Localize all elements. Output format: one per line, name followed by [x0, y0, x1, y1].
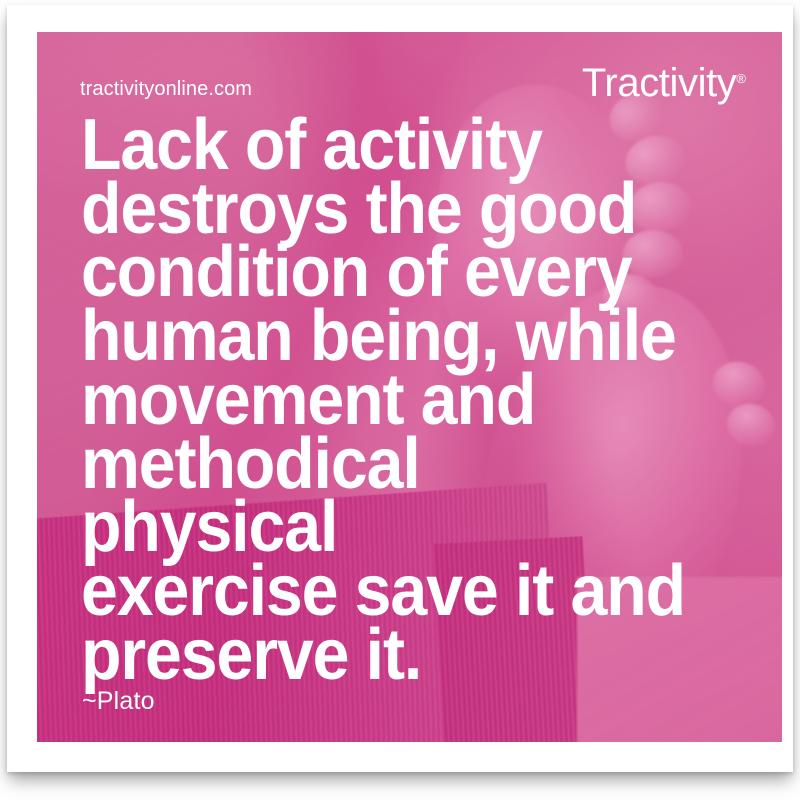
brand-logo-text: Tractivity — [582, 61, 737, 105]
photo-frame: tractivityonline.com Tractivity® Lack of… — [7, 5, 793, 772]
brand-logo: Tractivity® — [582, 63, 746, 103]
card-content: tractivityonline.com Tractivity® Lack of… — [37, 32, 782, 742]
quote-card: tractivityonline.com Tractivity® Lack of… — [37, 32, 782, 742]
registered-trademark-icon: ® — [736, 71, 746, 86]
quote-text: Lack of activity destroys the good condi… — [81, 114, 688, 687]
poster-canvas: tractivityonline.com Tractivity® Lack of… — [0, 0, 800, 800]
quote-attribution: ~Plato — [82, 687, 155, 716]
site-url-label: tractivityonline.com — [80, 78, 252, 101]
